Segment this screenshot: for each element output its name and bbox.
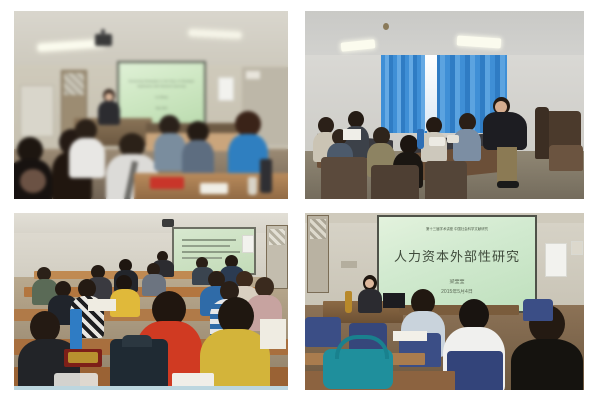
photo-bottom-left[interactable] (14, 213, 288, 390)
photo-top-right[interactable] (305, 11, 584, 199)
photo-bottom-right[interactable]: 第十三届学术讲座 中国社会科学文献研究 人力资本外部性研究 梁莹莹 2015年5… (305, 213, 584, 390)
photo-top-left[interactable]: Screening Strategies in the Face of Stra… (14, 11, 288, 199)
photo-gallery: Screening Strategies in the Face of Stra… (0, 0, 600, 402)
